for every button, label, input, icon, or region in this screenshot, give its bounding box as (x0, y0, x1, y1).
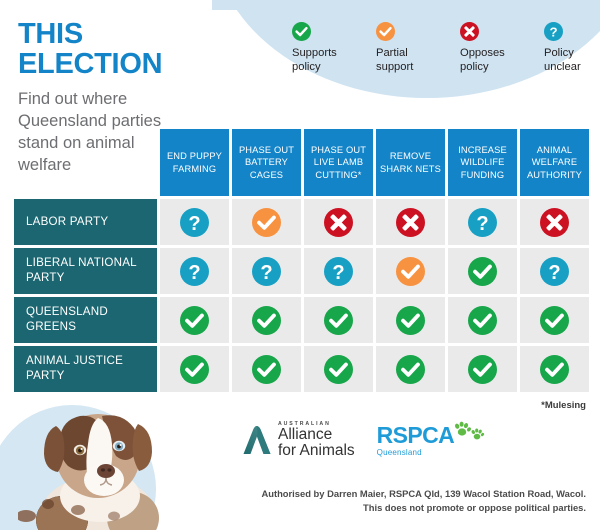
table-cell (448, 297, 517, 343)
column-header-1: PHASE OUT BATTERY CAGES (232, 129, 301, 196)
check-circle-icon (324, 355, 353, 384)
legend-item-label: Policyunclear (544, 47, 600, 74)
table-cell (448, 248, 517, 294)
puppy-photo (18, 398, 178, 530)
alliance-logo-line2: for Animals (278, 443, 355, 459)
legend-label-line2: unclear (544, 61, 600, 75)
legend-item-supports: Supportspolicy (292, 22, 354, 74)
svg-text:?: ? (549, 24, 557, 39)
alliance-chevron-icon (242, 424, 272, 456)
column-header-5: ANIMAL WELFARE AUTHORITY (520, 129, 589, 196)
row-header-party: LABOR PARTY (14, 199, 157, 245)
svg-text:?: ? (332, 261, 344, 283)
check-circle-icon (468, 257, 497, 286)
check-circle-icon (376, 22, 395, 41)
rspca-queensland-logo: RSPCA Queensland (377, 424, 455, 457)
question-circle-icon: ? (544, 22, 563, 41)
check-circle-icon (396, 306, 425, 335)
legend-item-label: Partialsupport (376, 47, 438, 74)
question-circle-icon: ? (324, 257, 353, 286)
cross-circle-icon (540, 208, 569, 237)
legend-label-line1: Opposes (460, 47, 522, 61)
check-circle-icon (292, 22, 311, 41)
column-header-3: REMOVE SHARK NETS (376, 129, 445, 196)
svg-text:?: ? (188, 261, 200, 283)
table-cell (448, 346, 517, 392)
check-circle-icon (540, 355, 569, 384)
table-cell (520, 297, 589, 343)
check-circle-icon (468, 306, 497, 335)
legend-item-label: Opposespolicy (460, 47, 522, 74)
authorisation-line1: Authorised by Darren Maier, RSPCA Qld, 1… (261, 487, 586, 501)
column-header-0: END PUPPY FARMING (160, 129, 229, 196)
question-circle-icon: ? (180, 257, 209, 286)
table-cell (232, 346, 301, 392)
legend-label-line2: policy (460, 61, 522, 75)
table-cell (520, 346, 589, 392)
row-header-party: LIBERAL NATIONAL PARTY (14, 248, 157, 294)
table-cell (160, 297, 229, 343)
question-circle-icon: ? (180, 208, 209, 237)
legend-label-line1: Partial (376, 47, 438, 61)
cross-circle-icon (324, 208, 353, 237)
legend-label-line1: Supports (292, 47, 354, 61)
page-title-line2: ELECTION (18, 50, 162, 80)
table-cell (304, 297, 373, 343)
table-cell (376, 297, 445, 343)
svg-text:?: ? (188, 212, 200, 234)
check-circle-icon (468, 355, 497, 384)
table-cell (232, 297, 301, 343)
table-cell: ? (160, 248, 229, 294)
cross-circle-icon (460, 22, 479, 41)
table-cell: ? (160, 199, 229, 245)
infographic-root: THIS ELECTION Find out where Queensland … (0, 0, 600, 530)
page-title: THIS ELECTION (18, 20, 162, 79)
check-circle-icon (252, 306, 281, 335)
table-cell (304, 346, 373, 392)
column-header-4: INCREASE WILDLIFE FUNDING (448, 129, 517, 196)
check-circle-icon (252, 208, 281, 237)
authorisation-text: Authorised by Darren Maier, RSPCA Qld, 1… (261, 487, 586, 515)
paw-prints-icon (453, 421, 487, 443)
check-circle-icon (180, 355, 209, 384)
legend-label-line1: Policy (544, 47, 600, 61)
cross-circle-icon (396, 208, 425, 237)
svg-text:?: ? (476, 212, 488, 234)
partner-logos: AUSTRALIAN Alliance for Animals RSPCA Qu… (242, 422, 454, 459)
legend-label-line2: policy (292, 61, 354, 75)
check-circle-icon (540, 306, 569, 335)
table-cell (376, 199, 445, 245)
party-positions-table: END PUPPY FARMINGPHASE OUT BATTERY CAGES… (14, 129, 589, 392)
question-circle-icon: ? (468, 208, 497, 237)
footnote: *Mulesing (541, 400, 586, 411)
check-circle-icon (180, 306, 209, 335)
table-corner-spacer (14, 129, 157, 196)
legend-label-line2: support (376, 61, 438, 75)
row-header-party: ANIMAL JUSTICE PARTY (14, 346, 157, 392)
check-circle-icon (252, 355, 281, 384)
legend-item-opposes: Opposespolicy (460, 22, 522, 74)
check-circle-icon (396, 257, 425, 286)
legend: SupportspolicyPartialsupportOpposespolic… (292, 22, 600, 74)
row-header-party: QUEENSLAND GREENS (14, 297, 157, 343)
rspca-sublabel: Queensland (377, 448, 455, 457)
legend-item-unclear: ?Policyunclear (544, 22, 600, 74)
authorisation-line2: This does not promote or oppose politica… (261, 501, 586, 515)
table-cell (376, 248, 445, 294)
table-cell (520, 199, 589, 245)
check-circle-icon (324, 306, 353, 335)
table-cell (376, 346, 445, 392)
column-header-2: PHASE OUT LIVE LAMB CUTTING* (304, 129, 373, 196)
svg-text:?: ? (260, 261, 272, 283)
alliance-for-animals-logo: AUSTRALIAN Alliance for Animals (242, 422, 355, 459)
legend-item-label: Supportspolicy (292, 47, 354, 74)
rspca-wordmark: RSPCA (377, 424, 455, 447)
page-title-line1: THIS (18, 20, 162, 50)
table-cell: ? (304, 248, 373, 294)
table-cell: ? (448, 199, 517, 245)
table-cell: ? (520, 248, 589, 294)
alliance-logo-line1: Alliance (278, 427, 355, 443)
table-cell (160, 346, 229, 392)
table-cell (304, 199, 373, 245)
table-cell (232, 199, 301, 245)
question-circle-icon: ? (540, 257, 569, 286)
table-cell: ? (232, 248, 301, 294)
question-circle-icon: ? (252, 257, 281, 286)
check-circle-icon (396, 355, 425, 384)
svg-text:?: ? (548, 261, 560, 283)
legend-item-partial: Partialsupport (376, 22, 438, 74)
